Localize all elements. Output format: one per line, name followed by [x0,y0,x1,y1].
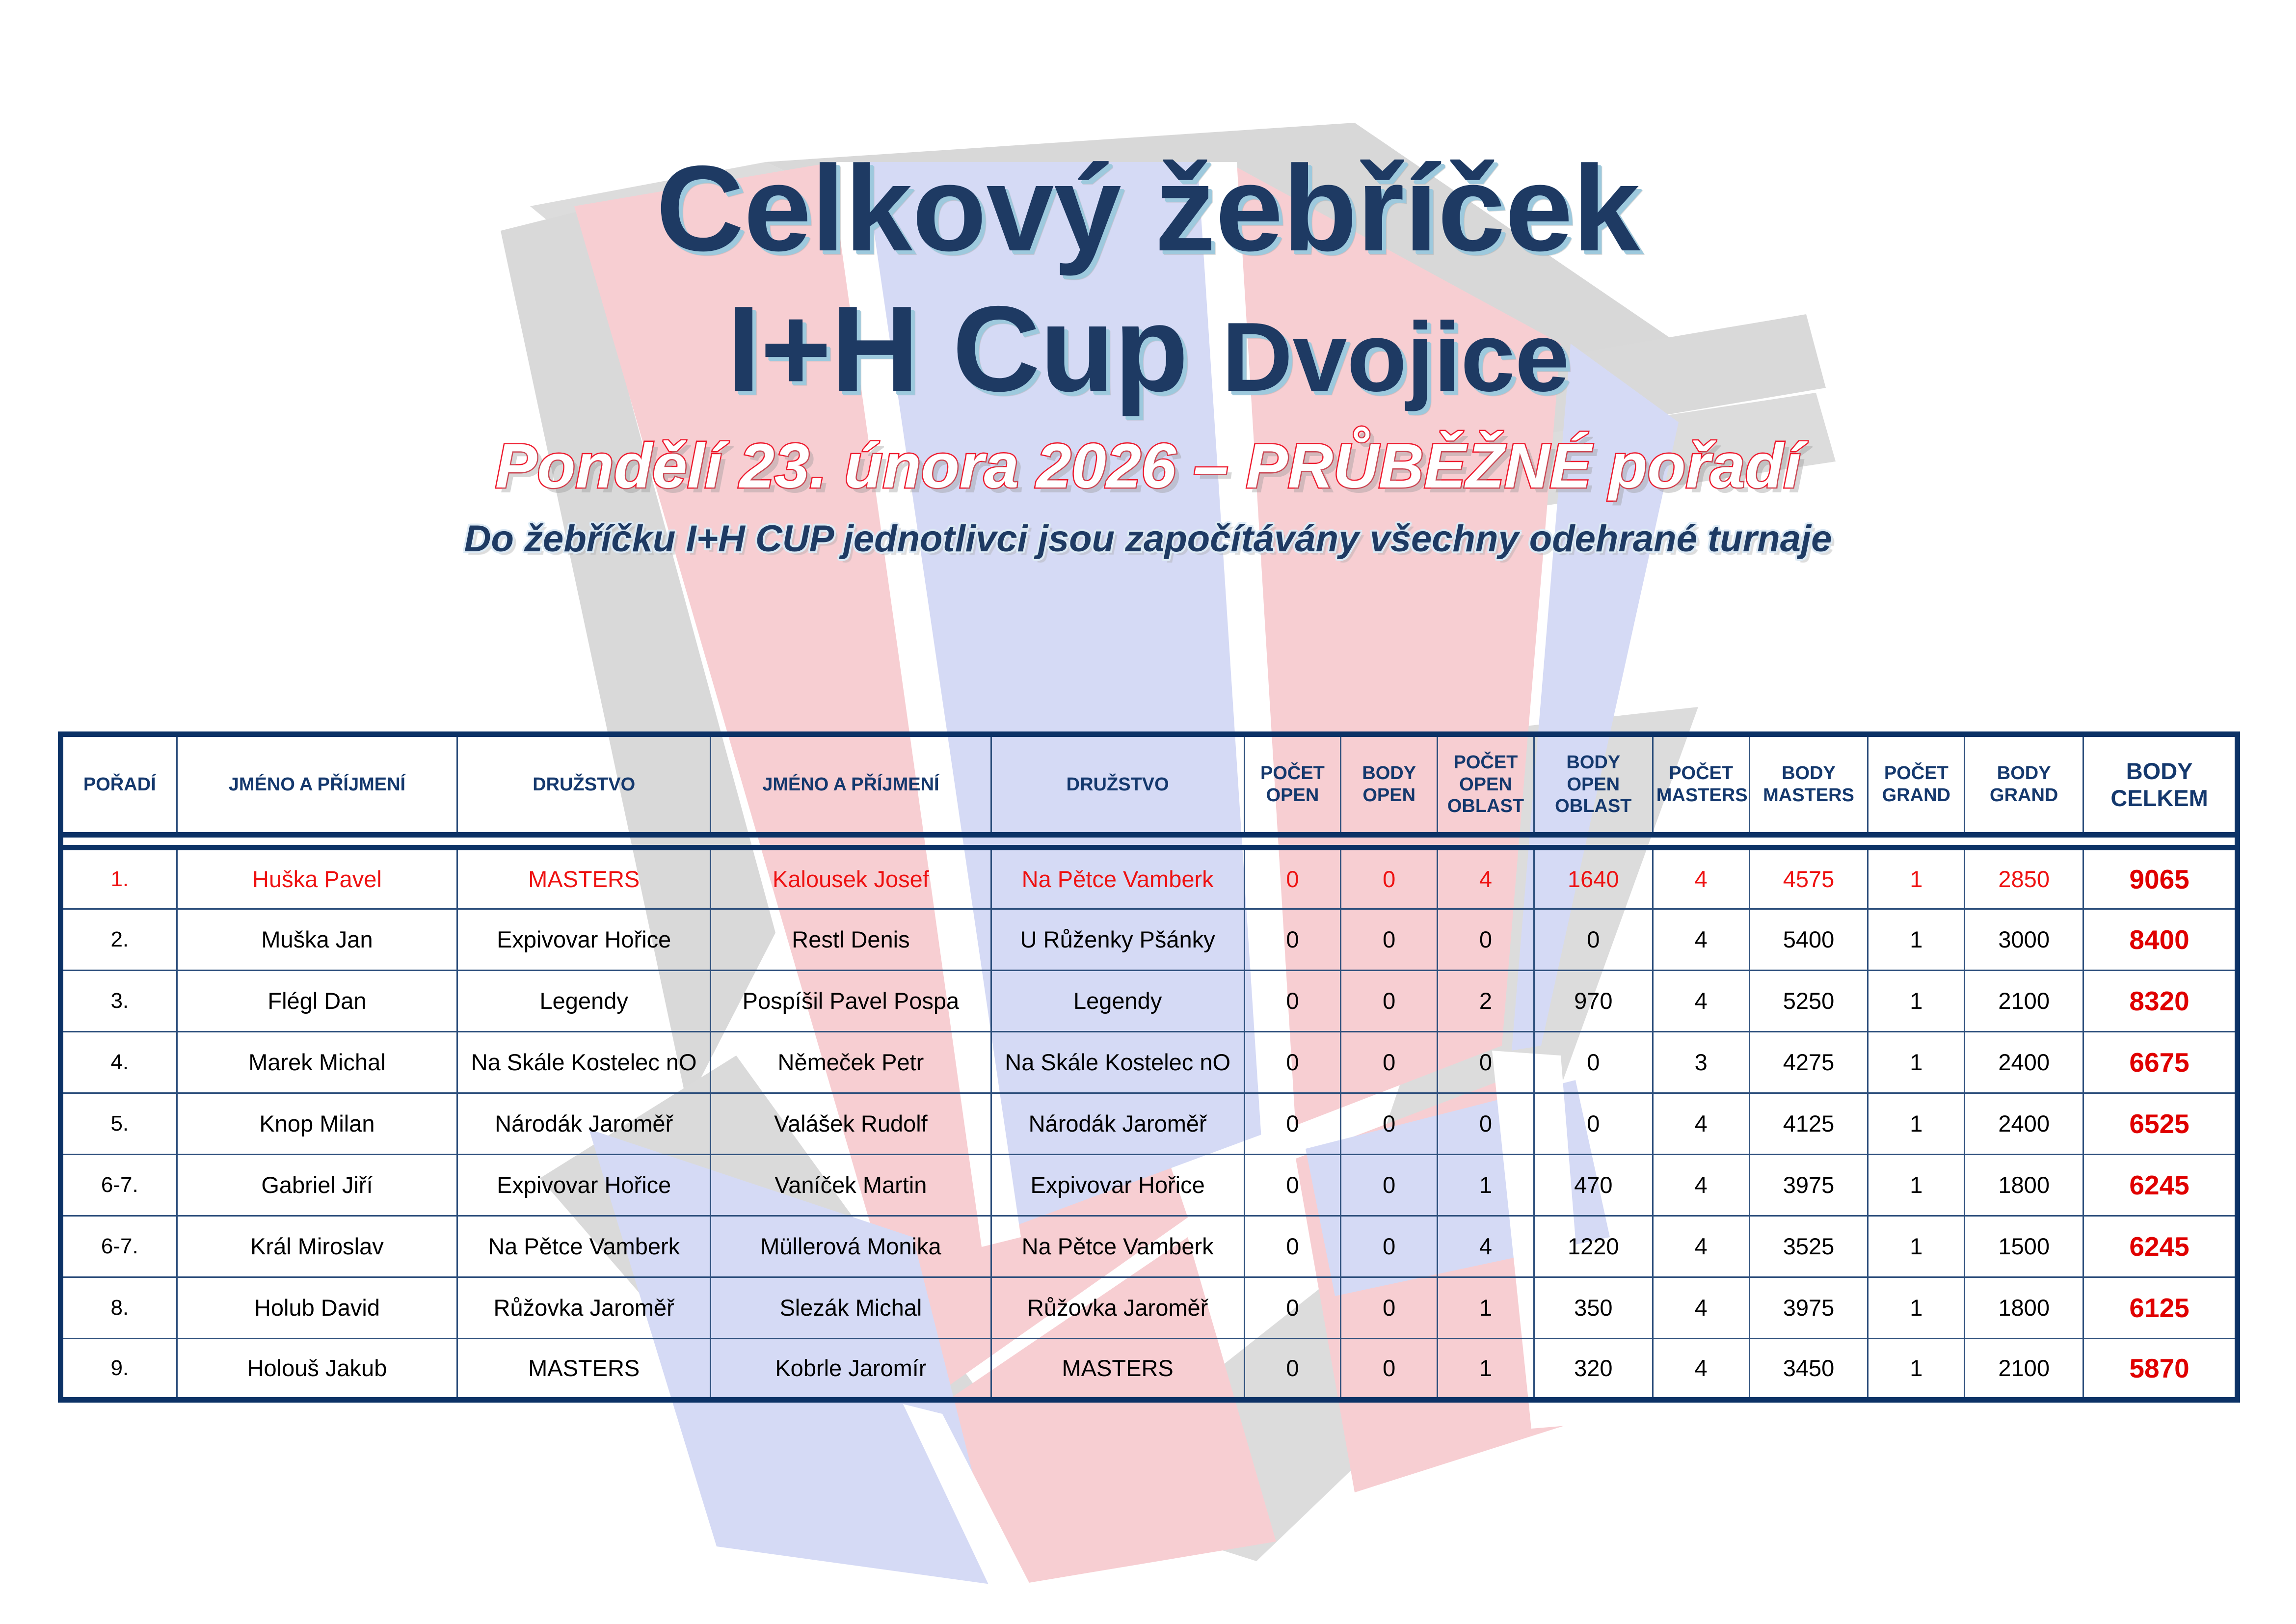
cell-team2: Národák Jaroměř [991,1093,1244,1155]
cell-body_masters: 5400 [1749,909,1868,971]
cell-body_open_obl: 350 [1534,1277,1653,1339]
cell-name2: Restl Denis [711,909,991,971]
cell-pocet_grand: 1 [1868,1339,1965,1400]
table-head: POŘADÍ JMÉNO A PŘÍJMENÍ DRUŽSTVO JMÉNO A… [61,734,2238,835]
cell-pocet_open_obl: 0 [1438,1032,1534,1093]
table-row: 8.Holub DavidRůžovka JaroměřSlezák Micha… [61,1277,2238,1339]
cell-pocet_open: 0 [1244,1032,1341,1093]
cell-body_open: 0 [1341,848,1438,909]
col-header-body-open-oblast: BODYOPENOBLAST [1534,734,1653,835]
cell-rank: 4. [61,1032,177,1093]
cell-body_masters: 5250 [1749,971,1868,1032]
cell-team1: Legendy [457,971,711,1032]
cell-pocet_open: 0 [1244,1093,1341,1155]
cell-body_grand: 1500 [1965,1216,2083,1277]
col-header-pocet-masters: POČETMASTERS [1653,734,1749,835]
col-header-pocet-grand: POČETGRAND [1868,734,1965,835]
cell-name2: Vaníček Martin [711,1155,991,1216]
cell-pocet_masters: 4 [1653,909,1749,971]
cell-pocet_open: 0 [1244,971,1341,1032]
cell-name1: Marek Michal [177,1032,457,1093]
cell-pocet_open_obl: 1 [1438,1277,1534,1339]
cell-body_masters: 3975 [1749,1155,1868,1216]
spacer-cell [61,835,2238,848]
cell-body_open: 0 [1341,1216,1438,1277]
cell-pocet_grand: 1 [1868,1216,1965,1277]
col-header-rank: POŘADÍ [61,734,177,835]
cell-body_open: 0 [1341,1093,1438,1155]
cell-body_masters: 4275 [1749,1032,1868,1093]
cell-pocet_grand: 1 [1868,909,1965,971]
cell-rank: 6-7. [61,1155,177,1216]
cell-body_grand: 1800 [1965,1155,2083,1216]
table-row: 5.Knop MilanNárodák JaroměřValášek Rudol… [61,1093,2238,1155]
cell-pocet_masters: 4 [1653,971,1749,1032]
col-header-pocet-open-oblast: POČETOPENOBLAST [1438,734,1534,835]
col-header-body-masters: BODYMASTERS [1749,734,1868,835]
cell-pocet_grand: 1 [1868,971,1965,1032]
spacer-row [61,835,2238,848]
cell-pocet_grand: 1 [1868,1032,1965,1093]
cell-pocet_masters: 4 [1653,1093,1749,1155]
col-header-pocet-open: POČETOPEN [1244,734,1341,835]
cell-name1: Huška Pavel [177,848,457,909]
cell-team2: Růžovka Jaroměř [991,1277,1244,1339]
page-title-line1: Celkový žebříček [0,147,2296,269]
cell-rank: 3. [61,971,177,1032]
cell-pocet_open_obl: 4 [1438,1216,1534,1277]
cell-team1: Růžovka Jaroměř [457,1277,711,1339]
cell-pocet_open: 0 [1244,1339,1341,1400]
cell-team1: Na Skále Kostelec nO [457,1032,711,1093]
cell-team2: Legendy [991,971,1244,1032]
cell-body_celkem: 8320 [2083,971,2238,1032]
table-header-row: POŘADÍ JMÉNO A PŘÍJMENÍ DRUŽSTVO JMÉNO A… [61,734,2238,835]
cell-team1: Na Pětce Vamberk [457,1216,711,1277]
cell-name1: Muška Jan [177,909,457,971]
cell-team2: MASTERS [991,1339,1244,1400]
col-header-body-celkem: BODYCELKEM [2083,734,2238,835]
cell-rank: 1. [61,848,177,909]
cell-pocet_masters: 4 [1653,1339,1749,1400]
cell-pocet_grand: 1 [1868,848,1965,909]
cell-body_open: 0 [1341,1339,1438,1400]
page-title-cup: I+H Cup [727,280,1188,417]
page-title-category: Dvojice [1222,302,1569,412]
cell-name1: Holub David [177,1277,457,1339]
cell-pocet_masters: 4 [1653,848,1749,909]
cell-pocet_grand: 1 [1868,1155,1965,1216]
cell-pocet_open: 0 [1244,909,1341,971]
cell-body_grand: 2100 [1965,971,2083,1032]
col-header-name2: JMÉNO A PŘÍJMENÍ [711,734,991,835]
cell-body_celkem: 9065 [2083,848,2238,909]
cell-body_celkem: 6245 [2083,1216,2238,1277]
cell-pocet_masters: 4 [1653,1155,1749,1216]
cell-body_open: 0 [1341,909,1438,971]
cell-team2: Na Pětce Vamberk [991,848,1244,909]
poster-header: Celkový žebříček I+H Cup Dvojice Pondělí… [0,0,2296,558]
subtitle-note: Do žebříčku I+H CUP jednotlivci jsou zap… [0,520,2296,558]
table-row: 6-7.Gabriel JiříExpivovar HořiceVaníček … [61,1155,2238,1216]
cell-body_masters: 4575 [1749,848,1868,909]
cell-name1: Flégl Dan [177,971,457,1032]
col-header-team2: DRUŽSTVO [991,734,1244,835]
cell-body_open_obl: 1640 [1534,848,1653,909]
table-row: 9.Holouš JakubMASTERSKobrle JaromírMASTE… [61,1339,2238,1400]
cell-body_grand: 2400 [1965,1032,2083,1093]
cell-pocet_masters: 3 [1653,1032,1749,1093]
cell-team1: Národák Jaroměř [457,1093,711,1155]
cell-body_open_obl: 320 [1534,1339,1653,1400]
cell-pocet_open_obl: 1 [1438,1339,1534,1400]
subtitle-date-status: Pondělí 23. února 2026 – PRŮBĚŽNÉ pořadí [0,435,2296,498]
cell-pocet_open_obl: 1 [1438,1155,1534,1216]
table-row: 4.Marek MichalNa Skále Kostelec nONěmeče… [61,1032,2238,1093]
cell-team2: Na Skále Kostelec nO [991,1032,1244,1093]
cell-pocet_open_obl: 4 [1438,848,1534,909]
ranking-table-container: POŘADÍ JMÉNO A PŘÍJMENÍ DRUŽSTVO JMÉNO A… [58,731,2240,1403]
cell-pocet_open: 0 [1244,1155,1341,1216]
cell-team2: Expivovar Hořice [991,1155,1244,1216]
cell-name2: Kobrle Jaromír [711,1339,991,1400]
cell-rank: 6-7. [61,1216,177,1277]
cell-name1: Gabriel Jiří [177,1155,457,1216]
cell-body_masters: 3525 [1749,1216,1868,1277]
cell-body_open_obl: 0 [1534,909,1653,971]
cell-team1: MASTERS [457,1339,711,1400]
cell-name2: Kalousek Josef [711,848,991,909]
cell-body_open: 0 [1341,1277,1438,1339]
cell-body_open: 0 [1341,1155,1438,1216]
cell-body_celkem: 6675 [2083,1032,2238,1093]
cell-rank: 5. [61,1093,177,1155]
cell-pocet_open_obl: 0 [1438,909,1534,971]
cell-body_open_obl: 0 [1534,1032,1653,1093]
ranking-table: POŘADÍ JMÉNO A PŘÍJMENÍ DRUŽSTVO JMÉNO A… [58,731,2240,1403]
table-body: 1.Huška PavelMASTERSKalousek JosefNa Pět… [61,848,2238,1400]
cell-body_open_obl: 0 [1534,1093,1653,1155]
cell-body_masters: 3975 [1749,1277,1868,1339]
col-header-body-open: BODYOPEN [1341,734,1438,835]
cell-body_grand: 3000 [1965,909,2083,971]
cell-pocet_open: 0 [1244,1277,1341,1339]
cell-body_celkem: 8400 [2083,909,2238,971]
cell-body_celkem: 6125 [2083,1277,2238,1339]
cell-team1: Expivovar Hořice [457,1155,711,1216]
cell-team2: U Růženky Pšánky [991,909,1244,971]
cell-body_grand: 1800 [1965,1277,2083,1339]
page-title-line2: I+H Cup Dvojice [0,288,2296,409]
cell-body_masters: 4125 [1749,1093,1868,1155]
cell-name2: Slezák Michal [711,1277,991,1339]
cell-body_grand: 2400 [1965,1093,2083,1155]
cell-body_open_obl: 470 [1534,1155,1653,1216]
cell-pocet_open_obl: 0 [1438,1093,1534,1155]
cell-body_open: 0 [1341,971,1438,1032]
cell-name2: Müllerová Monika [711,1216,991,1277]
cell-body_celkem: 6245 [2083,1155,2238,1216]
col-header-name1: JMÉNO A PŘÍJMENÍ [177,734,457,835]
cell-pocet_grand: 1 [1868,1277,1965,1339]
cell-body_open_obl: 970 [1534,971,1653,1032]
table-head-body-spacer [61,835,2238,848]
cell-name1: Holouš Jakub [177,1339,457,1400]
cell-name2: Němeček Petr [711,1032,991,1093]
cell-team1: Expivovar Hořice [457,909,711,971]
table-row: 1.Huška PavelMASTERSKalousek JosefNa Pět… [61,848,2238,909]
cell-pocet_open: 0 [1244,848,1341,909]
cell-name1: Knop Milan [177,1093,457,1155]
col-header-team1: DRUŽSTVO [457,734,711,835]
table-row: 3.Flégl DanLegendyPospíšil Pavel PospaLe… [61,971,2238,1032]
cell-pocet_masters: 4 [1653,1216,1749,1277]
cell-rank: 2. [61,909,177,971]
cell-body_open: 0 [1341,1032,1438,1093]
cell-rank: 8. [61,1277,177,1339]
cell-pocet_masters: 4 [1653,1277,1749,1339]
cell-team1: MASTERS [457,848,711,909]
cell-body_masters: 3450 [1749,1339,1868,1400]
cell-name2: Pospíšil Pavel Pospa [711,971,991,1032]
cell-body_open_obl: 1220 [1534,1216,1653,1277]
cell-pocet_open: 0 [1244,1216,1341,1277]
cell-body_grand: 2100 [1965,1339,2083,1400]
table-row: 6-7.Král MiroslavNa Pětce VamberkMüllero… [61,1216,2238,1277]
cell-team2: Na Pětce Vamberk [991,1216,1244,1277]
cell-body_celkem: 5870 [2083,1339,2238,1400]
cell-pocet_grand: 1 [1868,1093,1965,1155]
cell-rank: 9. [61,1339,177,1400]
wm-white-sep-4 [903,1404,1031,1591]
cell-body_celkem: 6525 [2083,1093,2238,1155]
cell-pocet_open_obl: 2 [1438,971,1534,1032]
cell-body_grand: 2850 [1965,848,2083,909]
cell-name2: Valášek Rudolf [711,1093,991,1155]
cell-name1: Král Miroslav [177,1216,457,1277]
col-header-body-grand: BODYGRAND [1965,734,2083,835]
table-row: 2.Muška JanExpivovar HořiceRestl DenisU … [61,909,2238,971]
